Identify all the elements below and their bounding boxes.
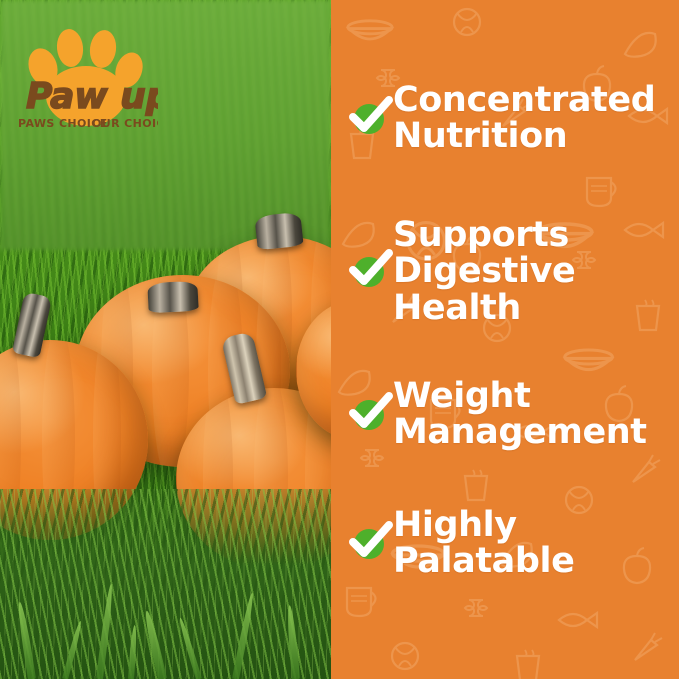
benefit-item-supports-digestive-health: Supports Digestive Health: [345, 217, 671, 326]
pumpkin-stem-center: [147, 281, 199, 314]
benefits-list: Concentrated Nutrition Supports Digestiv…: [331, 0, 679, 679]
grass-foreground: [0, 489, 331, 679]
brand-logo[interactable]: Paw up PAWS CHOICE OUR CHOICE: [8, 22, 158, 134]
benefit-item-concentrated-nutrition: Concentrated Nutrition: [345, 82, 671, 155]
pumpkin-stem-back-right: [254, 212, 303, 251]
benefit-label: Concentrated Nutrition: [393, 82, 655, 155]
svg-text:Paw up: Paw up: [26, 76, 158, 117]
product-benefits-banner: Paw up PAWS CHOICE OUR CHOICE: [0, 0, 679, 679]
logo-tagline: PAWS CHOICE OUR CHOICE: [18, 117, 158, 130]
check-circle-icon: [351, 101, 385, 135]
benefits-panel: Concentrated Nutrition Supports Digestiv…: [331, 0, 679, 679]
check-circle-icon: [351, 526, 385, 560]
logo-wordmark: Paw up: [26, 76, 158, 117]
check-circle-icon: [351, 254, 385, 288]
benefit-label: Highly Palatable: [393, 507, 574, 580]
benefit-label: Supports Digestive Health: [393, 217, 575, 326]
benefit-label: Weight Management: [393, 378, 647, 451]
svg-text:OUR CHOICE: OUR CHOICE: [92, 117, 158, 130]
benefit-item-highly-palatable: Highly Palatable: [345, 507, 671, 580]
check-circle-icon: [351, 397, 385, 431]
pumpkin-photo-panel: Paw up PAWS CHOICE OUR CHOICE: [0, 0, 331, 679]
benefit-item-weight-management: Weight Management: [345, 378, 671, 451]
